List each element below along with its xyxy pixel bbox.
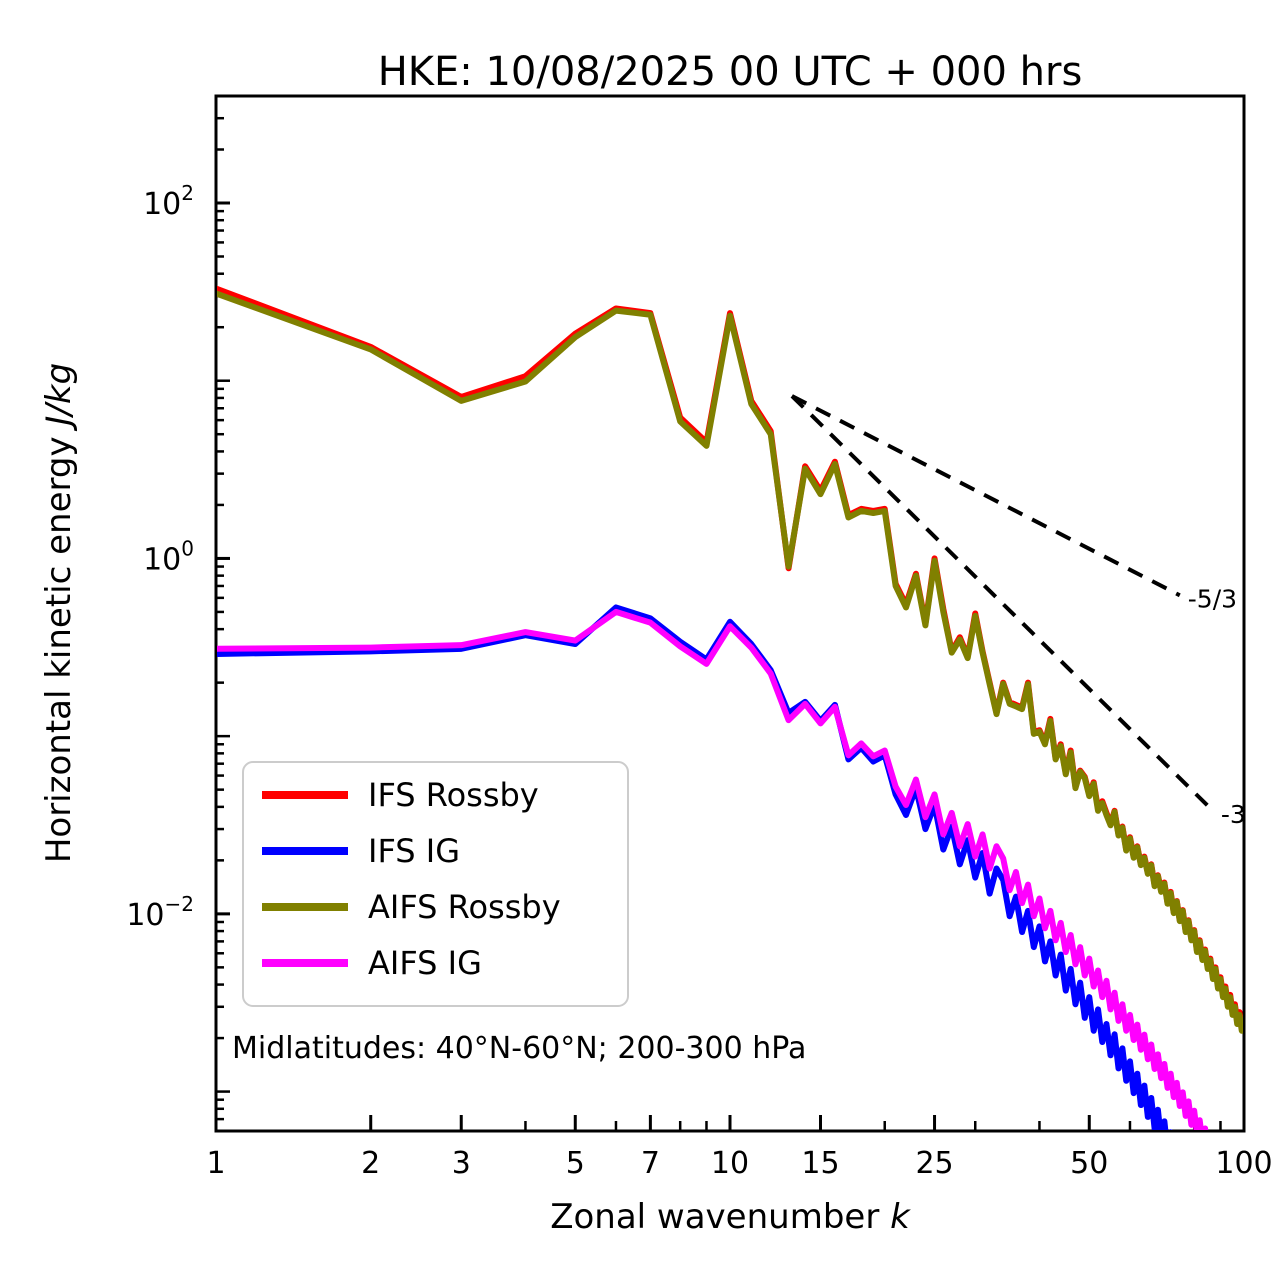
x-tick-label: 15 — [801, 1146, 839, 1181]
chart-title: HKE: 10/08/2025 00 UTC + 000 hrs — [378, 49, 1083, 95]
legend-label-aifs-rossby: AIFS Rossby — [368, 888, 561, 926]
x-tick-label: 2 — [361, 1146, 380, 1181]
region-annotation: Midlatitudes: 40°N-60°N; 200-300 hPa — [232, 1031, 806, 1066]
legend-label-aifs-ig: AIFS IG — [368, 944, 482, 982]
x-tick-label: 50 — [1070, 1146, 1108, 1181]
hke-spectrum-chart: HKE: 10/08/2025 00 UTC + 000 hrs 1021001… — [0, 0, 1280, 1288]
x-tick-label: 7 — [641, 1146, 660, 1181]
legend-label-ifs-rossby: IFS Rossby — [368, 776, 539, 814]
reference-line-label: -5/3 — [1188, 584, 1237, 613]
x-tick-label: 5 — [566, 1146, 585, 1181]
legend: IFS RossbyIFS IGAIFS RossbyAIFS IG — [243, 762, 628, 1006]
y-axis-label: Horizontal kinetic energy J/kg — [39, 363, 79, 863]
x-tick-label: 10 — [711, 1146, 749, 1181]
x-tick-label: 25 — [915, 1146, 953, 1181]
chart-figure: HKE: 10/08/2025 00 UTC + 000 hrs 1021001… — [0, 0, 1280, 1288]
x-tick-label: 3 — [452, 1146, 471, 1181]
reference-line-label: -3 — [1221, 800, 1246, 829]
x-tick-label: 1 — [206, 1146, 225, 1181]
legend-label-ifs-ig: IFS IG — [368, 832, 460, 870]
x-axis-label: Zonal wavenumber k — [550, 1197, 911, 1237]
x-tick-label: 100 — [1215, 1146, 1272, 1181]
